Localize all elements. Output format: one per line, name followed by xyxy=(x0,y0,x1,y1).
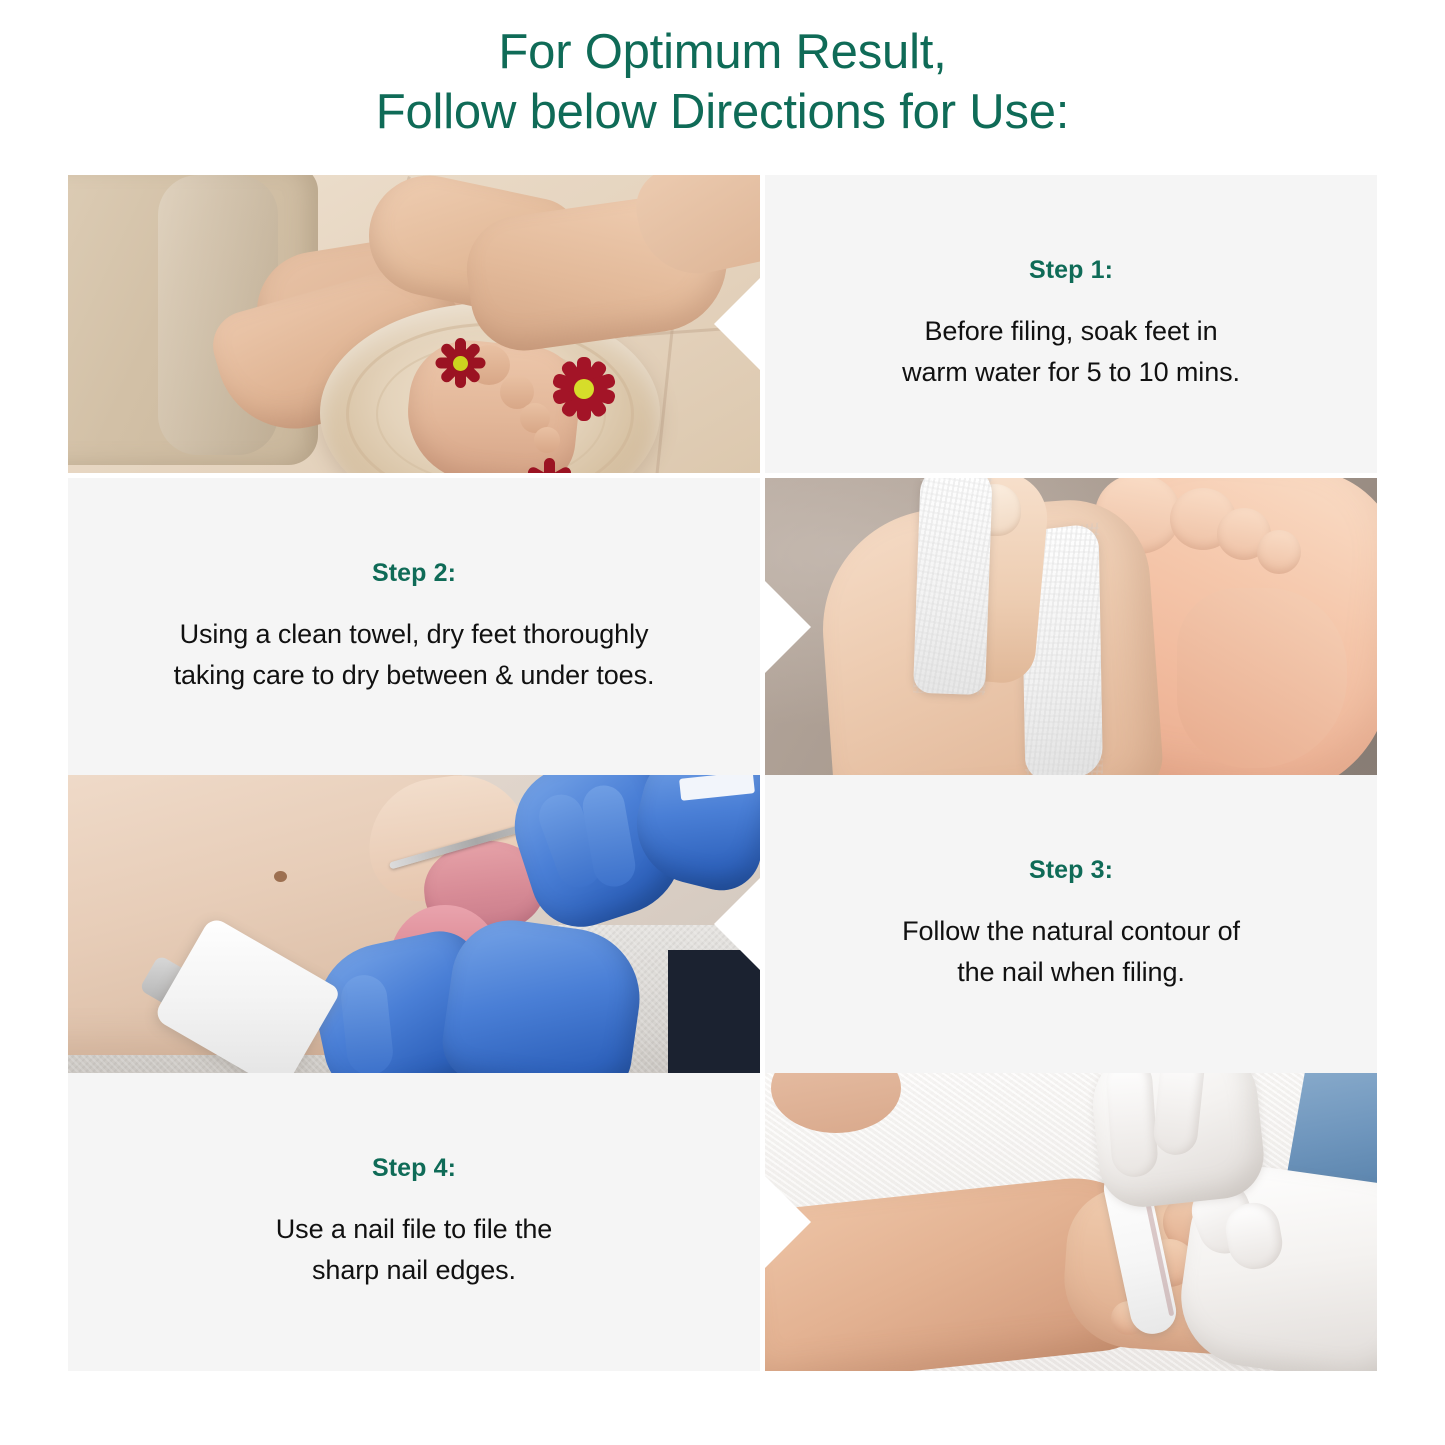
step-2-label: Step 2: xyxy=(372,558,456,588)
step-3-line-1: Follow the natural contour of xyxy=(902,911,1240,952)
step-1-text-panel: Step 1: Before filing, soak feet in warm… xyxy=(765,175,1377,473)
step-4-image xyxy=(765,1073,1377,1371)
page-title-line-2: Follow below Directions for Use: xyxy=(0,82,1445,142)
step-row-3: Step 3: Follow the natural contour of th… xyxy=(68,775,1377,1073)
step-2-image xyxy=(765,478,1377,776)
white-towel xyxy=(913,478,993,695)
step-4-description: Use a nail file to file the sharp nail e… xyxy=(250,1209,578,1291)
step-1-label: Step 1: xyxy=(1029,255,1113,285)
step-4-line-2: sharp nail edges. xyxy=(276,1250,552,1291)
page-title-line-1: For Optimum Result, xyxy=(0,22,1445,82)
flower-icon xyxy=(524,457,574,473)
step-1-line-2: warm water for 5 to 10 mins. xyxy=(902,352,1240,393)
step-2-description: Using a clean towel, dry feet thoroughly… xyxy=(148,614,681,696)
chevron-left-icon xyxy=(714,278,760,370)
infographic-page: For Optimum Result, Follow below Directi… xyxy=(0,0,1445,1445)
step-row-1: Step 1: Before filing, soak feet in warm… xyxy=(68,175,1377,473)
step-3-line-2: the nail when filing. xyxy=(902,952,1240,993)
page-title: For Optimum Result, Follow below Directi… xyxy=(0,22,1445,142)
step-4-label: Step 4: xyxy=(372,1153,456,1183)
dark-background-area xyxy=(668,950,760,1073)
step-3-label: Step 3: xyxy=(1029,855,1113,885)
flower-icon xyxy=(548,353,620,425)
step-2-line-2: taking care to dry between & under toes. xyxy=(174,655,655,696)
step-row-4: Step 4: Use a nail file to file the shar… xyxy=(68,1073,1377,1371)
step-4-text-panel: Step 4: Use a nail file to file the shar… xyxy=(68,1073,760,1371)
step-1-line-1: Before filing, soak feet in xyxy=(902,311,1240,352)
step-3-image xyxy=(68,775,760,1073)
step-row-2: Step 2: Using a clean towel, dry feet th… xyxy=(68,478,1377,776)
gloved-finger xyxy=(1105,1073,1159,1178)
step-2-text-panel: Step 2: Using a clean towel, dry feet th… xyxy=(68,478,760,776)
step-3-description: Follow the natural contour of the nail w… xyxy=(876,911,1266,993)
step-3-text-panel: Step 3: Follow the natural contour of th… xyxy=(765,775,1377,1073)
skin-mole xyxy=(274,871,287,882)
step-1-description: Before filing, soak feet in warm water f… xyxy=(876,311,1266,393)
step-4-line-1: Use a nail file to file the xyxy=(276,1209,552,1250)
steps-grid: Step 1: Before filing, soak feet in warm… xyxy=(68,175,1377,1373)
toe xyxy=(1257,530,1301,574)
step-1-image xyxy=(68,175,760,473)
toe xyxy=(534,427,560,453)
step-2-line-1: Using a clean towel, dry feet thoroughly xyxy=(174,614,655,655)
flower-icon xyxy=(432,335,488,391)
